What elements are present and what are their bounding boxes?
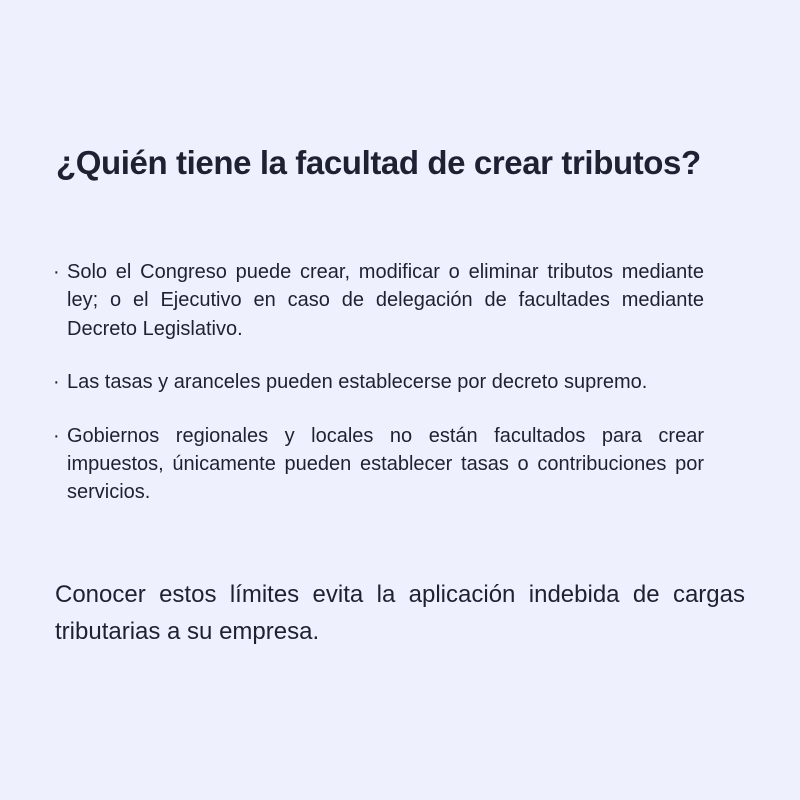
list-item: · Gobiernos regionales y locales no está… [52, 422, 704, 507]
closing-paragraph: Conocer estos límites evita la aplicació… [55, 576, 745, 650]
bullet-list: · Solo el Congreso puede crear, modifica… [52, 258, 704, 507]
bullet-marker-icon: · [53, 368, 60, 396]
slide-canvas: ¿Quién tiene la facultad de crear tribut… [0, 0, 800, 800]
bullet-marker-icon: · [53, 258, 60, 286]
list-item: · Las tasas y aranceles pueden establece… [52, 368, 704, 396]
page-title: ¿Quién tiene la facultad de crear tribut… [56, 142, 706, 183]
list-item-text: Las tasas y aranceles pueden establecers… [67, 368, 704, 396]
list-item-text: Gobiernos regionales y locales no están … [67, 422, 704, 507]
list-item-text: Solo el Congreso puede crear, modificar … [67, 258, 704, 343]
bullet-marker-icon: · [53, 422, 60, 450]
list-item: · Solo el Congreso puede crear, modifica… [52, 258, 704, 343]
